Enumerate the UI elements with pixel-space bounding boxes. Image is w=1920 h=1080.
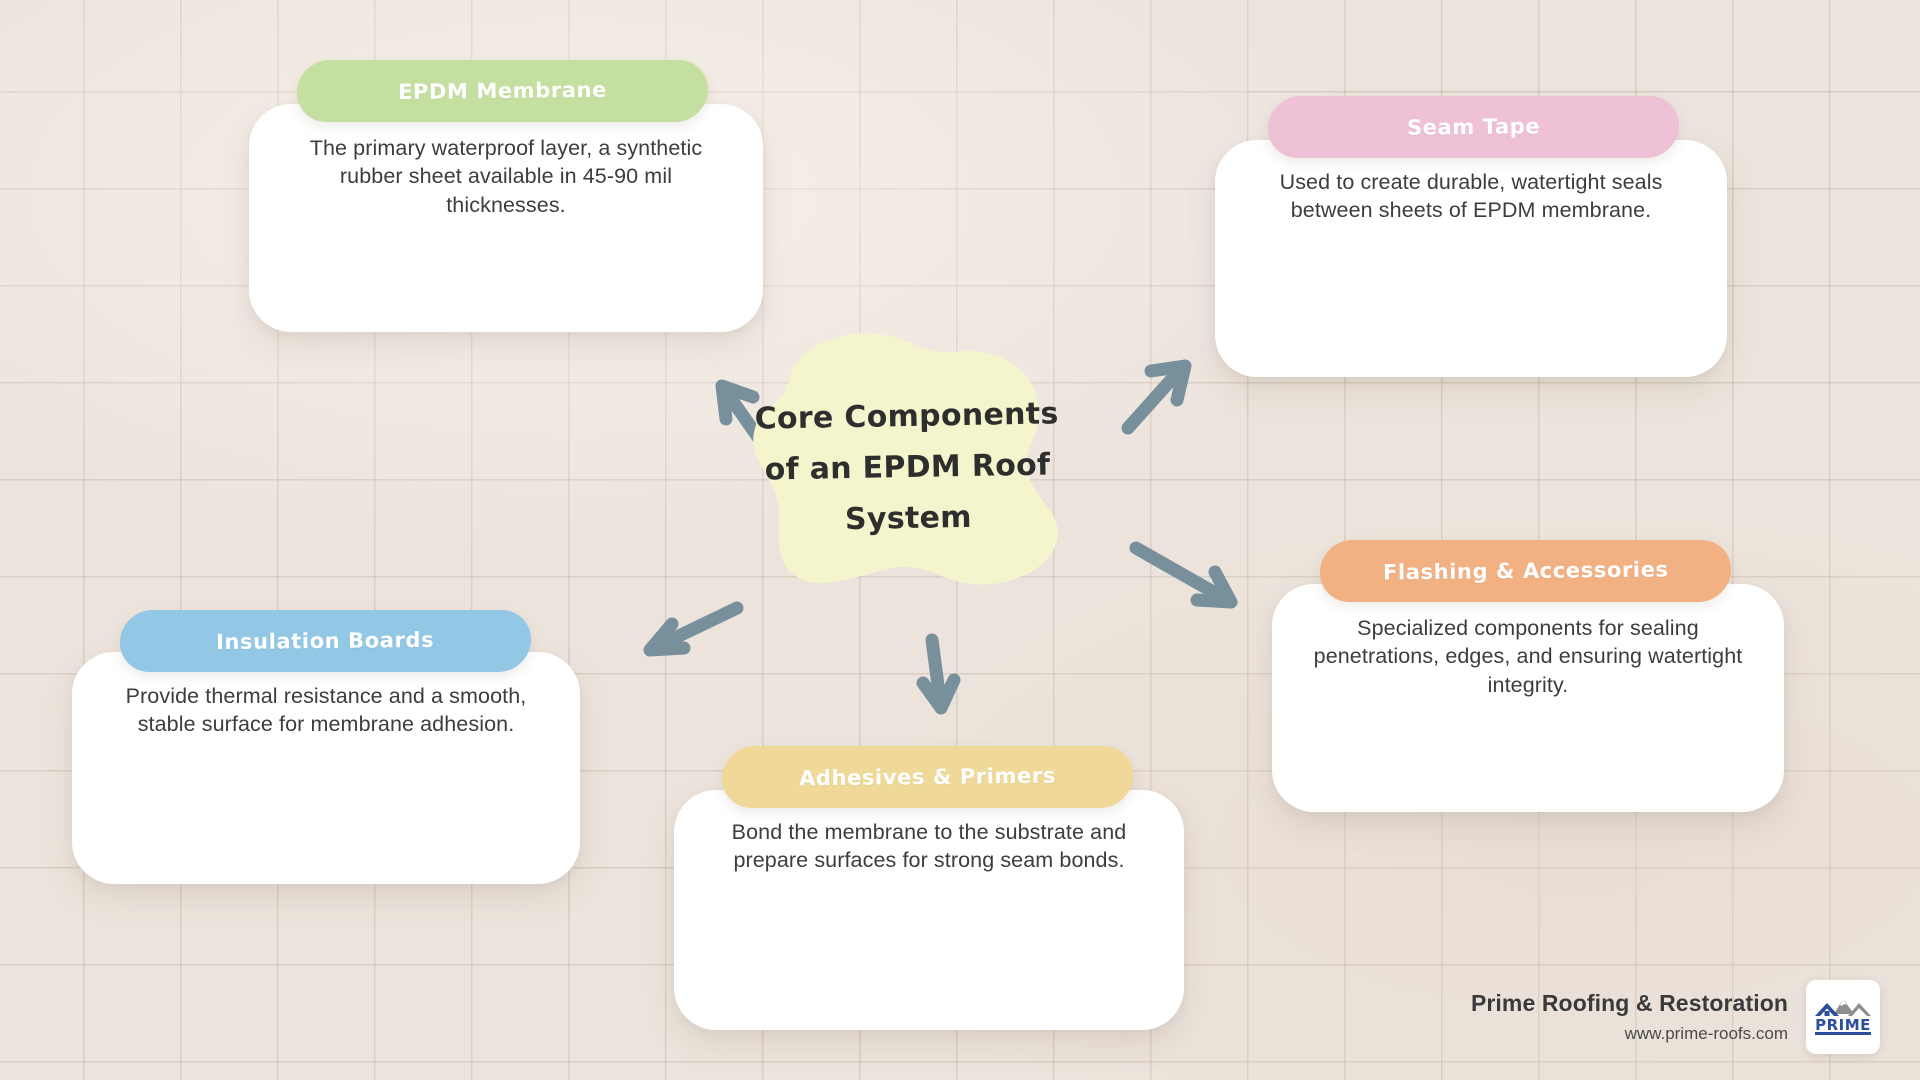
card-header-seam-tape[interactable]: Seam Tape [1266,96,1680,158]
card-epdm-membrane[interactable]: The primary waterproof layer, a syntheti… [249,104,763,332]
blob-title: Core Components of an EPDM Roof System [742,319,1072,615]
brand-name: Prime Roofing & Restoration [1471,990,1788,1017]
infographic-canvas: The primary waterproof layer, a syntheti… [0,0,1920,1080]
card-insulation-boards[interactable]: Provide thermal resistance and a smooth,… [72,652,580,884]
card-body-adhesives-primers: Bond the membrane to the substrate and p… [674,818,1184,875]
blob-title-line-3: System [845,499,972,536]
prime-logo-mark: PRIME [1812,992,1874,1042]
card-adhesives-primers[interactable]: Bond the membrane to the substrate and p… [674,790,1184,1030]
card-header-label-insulation-boards: Insulation Boards [216,628,434,654]
center-concept-blob: Core Components of an EPDM Roof System [745,322,1070,612]
card-header-epdm-membrane[interactable]: EPDM Membrane [295,60,709,122]
footer-text-block: Prime Roofing & Restoration www.prime-ro… [1471,990,1788,1044]
card-flashing-accessories[interactable]: Specialized components for sealing penet… [1272,584,1784,812]
card-header-label-epdm-membrane: EPDM Membrane [398,78,607,104]
card-seam-tape[interactable]: Used to create durable, watertight seals… [1215,140,1727,377]
card-header-adhesives-primers[interactable]: Adhesives & Primers [720,746,1134,808]
card-header-label-flashing-accessories: Flashing & Accessories [1383,558,1669,585]
card-body-epdm-membrane: The primary waterproof layer, a syntheti… [249,134,763,219]
brand-url[interactable]: www.prime-roofs.com [1471,1024,1788,1044]
card-body-seam-tape: Used to create durable, watertight seals… [1215,168,1727,225]
card-body-insulation-boards: Provide thermal resistance and a smooth,… [72,682,580,739]
blob-title-line-1: Core Components [754,396,1059,436]
card-header-insulation-boards[interactable]: Insulation Boards [118,610,532,672]
card-body-flashing-accessories: Specialized components for sealing penet… [1272,614,1784,699]
card-header-flashing-accessories[interactable]: Flashing & Accessories [1318,540,1732,602]
svg-text:PRIME: PRIME [1815,1016,1871,1034]
footer-branding: Prime Roofing & Restoration www.prime-ro… [1471,980,1880,1054]
card-header-label-adhesives-primers: Adhesives & Primers [799,764,1056,791]
prime-logo: PRIME [1806,980,1880,1054]
blob-title-line-2: of an EPDM Roof [764,447,1050,487]
card-header-label-seam-tape: Seam Tape [1407,114,1540,139]
